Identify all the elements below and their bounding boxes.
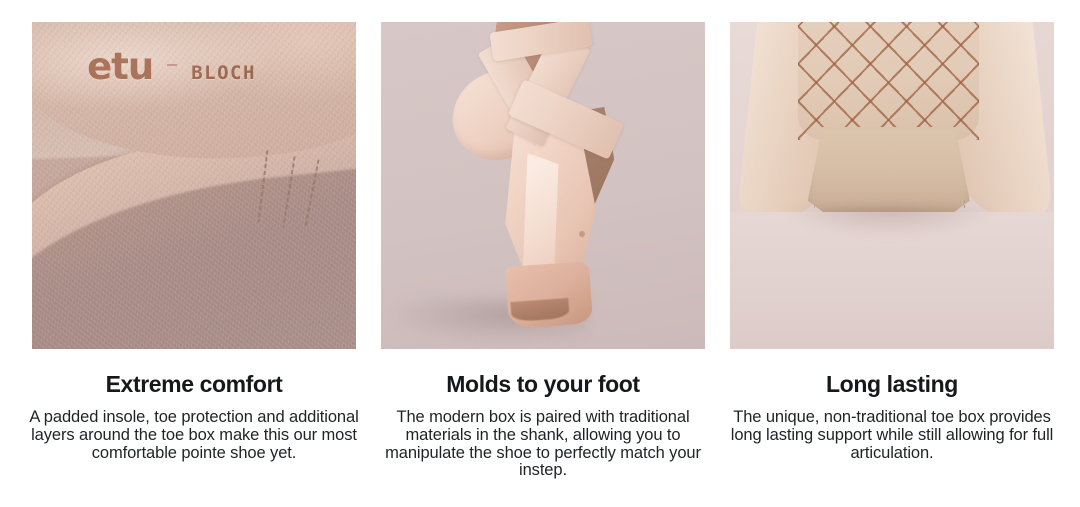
feature-grid: etu BLOCH Extreme comfort A padded insol… — [0, 0, 1080, 480]
feature-heading: Molds to your foot — [446, 372, 639, 397]
brand-stamp-primary: etu — [87, 45, 153, 88]
suede-sole-panel — [798, 22, 979, 140]
platform-stitching — [814, 130, 965, 208]
feature-body: The unique, non-traditional toe box prov… — [724, 409, 1060, 462]
feature-body: A padded insole, toe protection and addi… — [26, 409, 362, 462]
drawstring-knot — [579, 231, 585, 237]
feature-image-pointe-shoe-en-pointe — [381, 22, 705, 349]
feature-body: The modern box is paired with traditiona… — [375, 409, 711, 480]
feature-card-long-lasting: Long lasting The unique, non-traditional… — [730, 22, 1054, 480]
feature-image-suede-vamp-closeup: etu BLOCH — [32, 22, 356, 349]
feature-heading: Extreme comfort — [106, 372, 283, 397]
brand-stamp-divider — [167, 64, 177, 66]
feature-card-molds-to-your-foot: Molds to your foot The modern box is pai… — [381, 22, 705, 480]
contact-shadow — [782, 205, 996, 238]
cross-hatch-pattern — [798, 22, 979, 140]
brand-stamp: etu BLOCH — [87, 45, 256, 88]
feature-heading: Long lasting — [826, 372, 958, 397]
brand-stamp-secondary: BLOCH — [191, 62, 256, 84]
feature-image-toe-box-platform-detail — [730, 22, 1054, 349]
feature-card-extreme-comfort: etu BLOCH Extreme comfort A padded insol… — [32, 22, 356, 480]
